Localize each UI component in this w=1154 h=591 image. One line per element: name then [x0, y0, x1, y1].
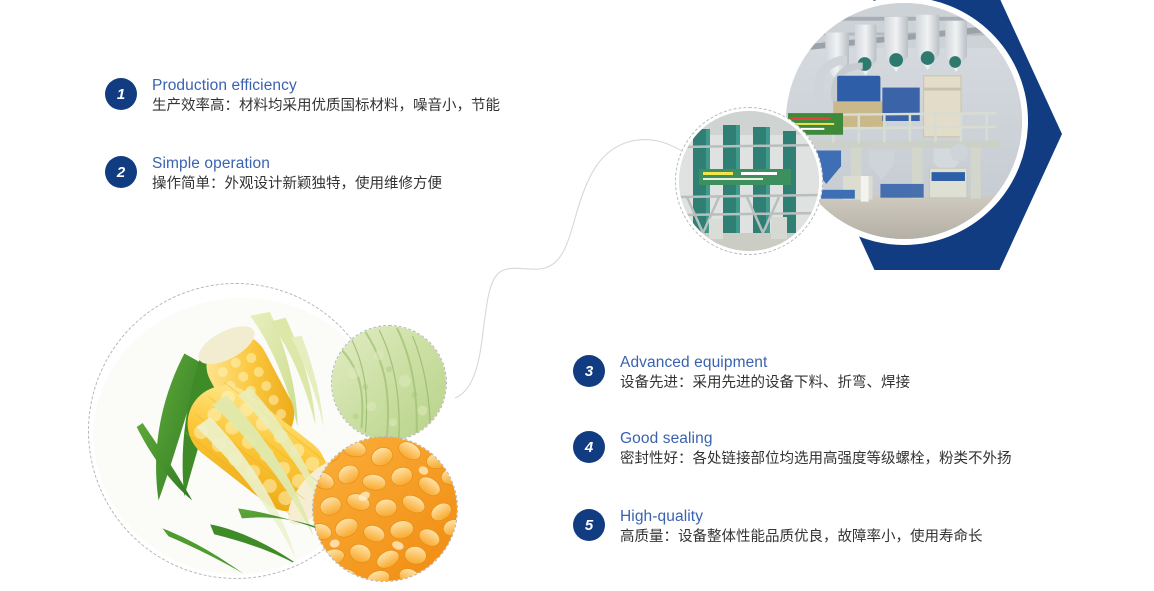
feature-title: High-quality — [620, 507, 983, 526]
feature-number-badge: 2 — [105, 156, 137, 188]
feature-description: 密封性好：各处链接部位均选用高强度等级螺栓，粉类不外扬 — [620, 449, 1012, 470]
feature-text-block: Advanced equipment 设备先进：采用先进的设备下料、折弯、焊接 — [620, 353, 910, 394]
feature-number-badge: 4 — [573, 431, 605, 463]
feature-title: Advanced equipment — [620, 353, 910, 372]
feature-description: 高质量：设备整体性能品质优良，故障率小，使用寿命长 — [620, 527, 983, 548]
feature-description: 操作简单：外观设计新颖独特，使用维修方便 — [152, 174, 442, 195]
factory-image-cluster — [660, 0, 1154, 284]
feature-number-badge: 3 — [573, 355, 605, 387]
feature-text-block: Good sealing 密封性好：各处链接部位均选用高强度等级螺栓，粉类不外扬 — [620, 429, 1012, 470]
feature-description: 设备先进：采用先进的设备下料、折弯、焊接 — [620, 373, 910, 394]
feature-text-block: Simple operation 操作简单：外观设计新颖独特，使用维修方便 — [152, 154, 442, 195]
feature-item-3[interactable]: 3 Advanced equipment 设备先进：采用先进的设备下料、折弯、焊… — [573, 353, 910, 394]
feature-title: Simple operation — [152, 154, 442, 173]
corn-kernels-photo — [312, 436, 458, 582]
feature-title: Good sealing — [620, 429, 1012, 448]
produce-image-cluster — [88, 283, 478, 591]
feature-number-badge: 5 — [573, 509, 605, 541]
green-corn-paste-photo — [331, 325, 447, 441]
feature-item-2[interactable]: 2 Simple operation 操作简单：外观设计新颖独特，使用维修方便 — [105, 154, 442, 195]
feature-text-block: Production efficiency 生产效率高：材料均采用优质国标材料，… — [152, 76, 500, 117]
feature-number-badge: 1 — [105, 78, 137, 110]
feature-text-block: High-quality 高质量：设备整体性能品质优良，故障率小，使用寿命长 — [620, 507, 983, 548]
feature-title: Production efficiency — [152, 76, 500, 95]
feature-description: 生产效率高：材料均采用优质国标材料，噪音小，节能 — [152, 96, 500, 117]
feature-item-1[interactable]: 1 Production efficiency 生产效率高：材料均采用优质国标材… — [105, 76, 500, 117]
feature-item-4[interactable]: 4 Good sealing 密封性好：各处链接部位均选用高强度等级螺栓，粉类不… — [573, 429, 1012, 470]
factory-secondary-photo — [675, 107, 823, 255]
feature-showcase-graphic: 1 Production efficiency 生产效率高：材料均采用优质国标材… — [0, 0, 1154, 591]
feature-item-5[interactable]: 5 High-quality 高质量：设备整体性能品质优良，故障率小，使用寿命长 — [573, 507, 983, 548]
